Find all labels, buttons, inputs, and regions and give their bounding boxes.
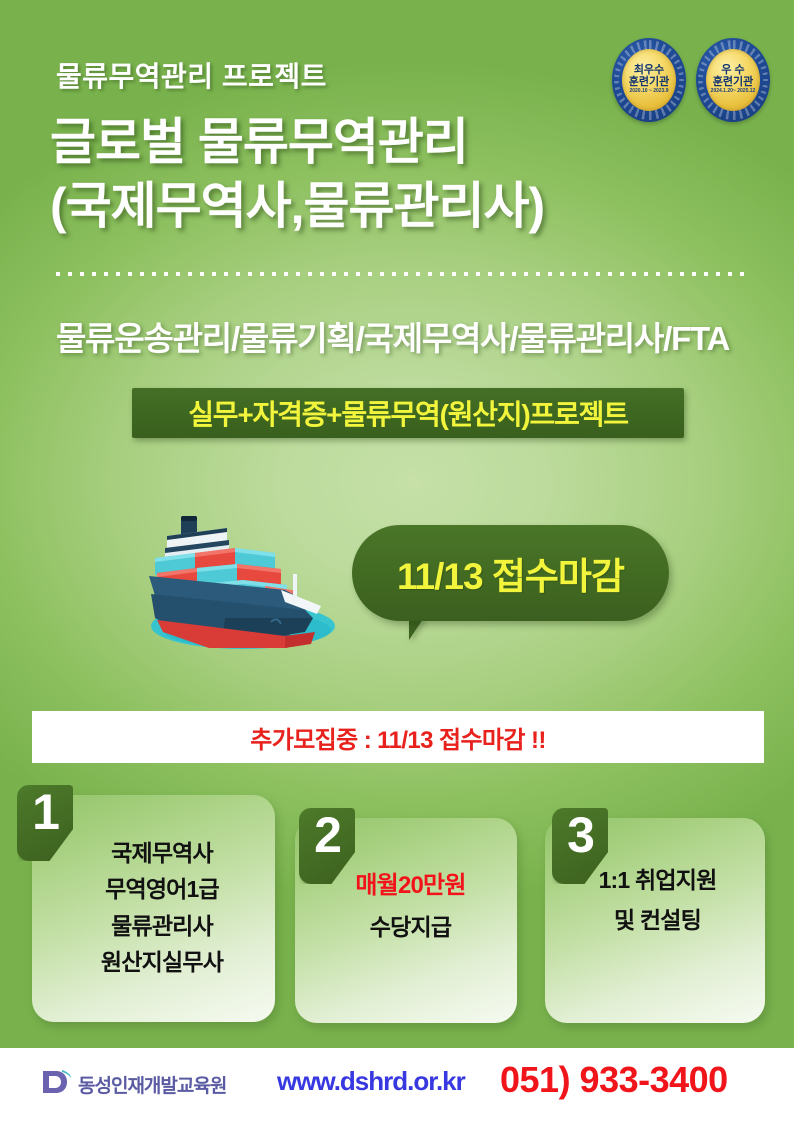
page-title: 글로벌 물류무역관리 (국제무역사,물류관리사) — [50, 110, 690, 238]
program-highlight-band: 실무+자격증+물류무역(원산지)프로젝트 — [132, 388, 684, 438]
benefit-card-3-content: 1:1 취업지원 및 컨설팅 — [560, 865, 755, 936]
organization-name: 동성인재개발교육원 — [78, 1071, 226, 1098]
badge-line-2: 훈련기관 — [629, 77, 669, 89]
badge-medal-icon: 최우수 훈련기관 2020.10 ~ 2023.9 — [622, 49, 676, 111]
best-training-institution-badge: 최우수 훈련기관 2020.10 ~ 2023.9 — [612, 38, 686, 122]
card-line: 및 컨설팅 — [614, 905, 701, 935]
poster-root: 물류무역관리 프로젝트 글로벌 물류무역관리 (국제무역사,물류관리사) 최우수… — [0, 0, 794, 1123]
card-line: 무역영어1급 — [105, 874, 219, 904]
additional-recruitment-notice: 추가모집중 : 11/13 접수마감 !! — [32, 711, 764, 763]
container-ship-icon — [135, 498, 345, 658]
headline-line-1: 글로벌 물류무역관리 — [50, 110, 690, 174]
badge-period: 2020.10 ~ 2023.9 — [629, 89, 668, 95]
deadline-text: 11/13 접수마감 — [397, 546, 624, 600]
phone-number[interactable]: 051) 933-3400 — [500, 1059, 728, 1101]
website-url[interactable]: www.dshrd.or.kr — [277, 1066, 465, 1097]
card-number: 1 — [32, 787, 58, 837]
card-line: 원산지실무사 — [101, 947, 223, 977]
badge-medal-icon: 우 수 훈련기관 2024.1.20~ 2025.12 — [706, 49, 760, 111]
card-line: 수당지급 — [370, 912, 451, 942]
card-line-allowance-amount: 매월20만원 — [355, 870, 465, 902]
card-number: 2 — [314, 810, 340, 860]
benefit-card-1-content: 국제무역사 무역영어1급 물류관리사 원산지실무사 — [62, 838, 262, 977]
badge-line-2: 훈련기관 — [713, 77, 753, 89]
course-subjects-line: 물류운송관리/물류기획/국제무역사/물류관리사/FTA — [56, 312, 729, 360]
card-line: 물류관리사 — [111, 911, 213, 941]
badge-period: 2024.1.20~ 2025.12 — [711, 89, 756, 95]
poster-kicker: 물류무역관리 프로젝트 — [56, 55, 327, 95]
dongseong-logo-icon — [42, 1069, 72, 1095]
benefit-card-2-content: 매월20만원 수당지급 — [318, 870, 503, 942]
card-number: 3 — [567, 810, 593, 860]
headline-line-2: (국제무역사,물류관리사) — [50, 174, 690, 238]
excellent-training-institution-badge: 우 수 훈련기관 2024.1.20~ 2025.12 — [696, 38, 770, 122]
card-line: 1:1 취업지원 — [599, 865, 717, 895]
card-line: 국제무역사 — [111, 838, 213, 868]
program-highlight-text: 실무+자격증+물류무역(원산지)프로젝트 — [188, 393, 628, 433]
award-badge-group: 최우수 훈련기관 2020.10 ~ 2023.9 우 수 훈련기관 2024.… — [612, 38, 770, 122]
dotted-divider — [56, 272, 746, 276]
notice-text: 추가모집중 : 11/13 접수마감 !! — [250, 720, 546, 755]
deadline-speech-bubble: 11/13 접수마감 — [352, 525, 669, 621]
